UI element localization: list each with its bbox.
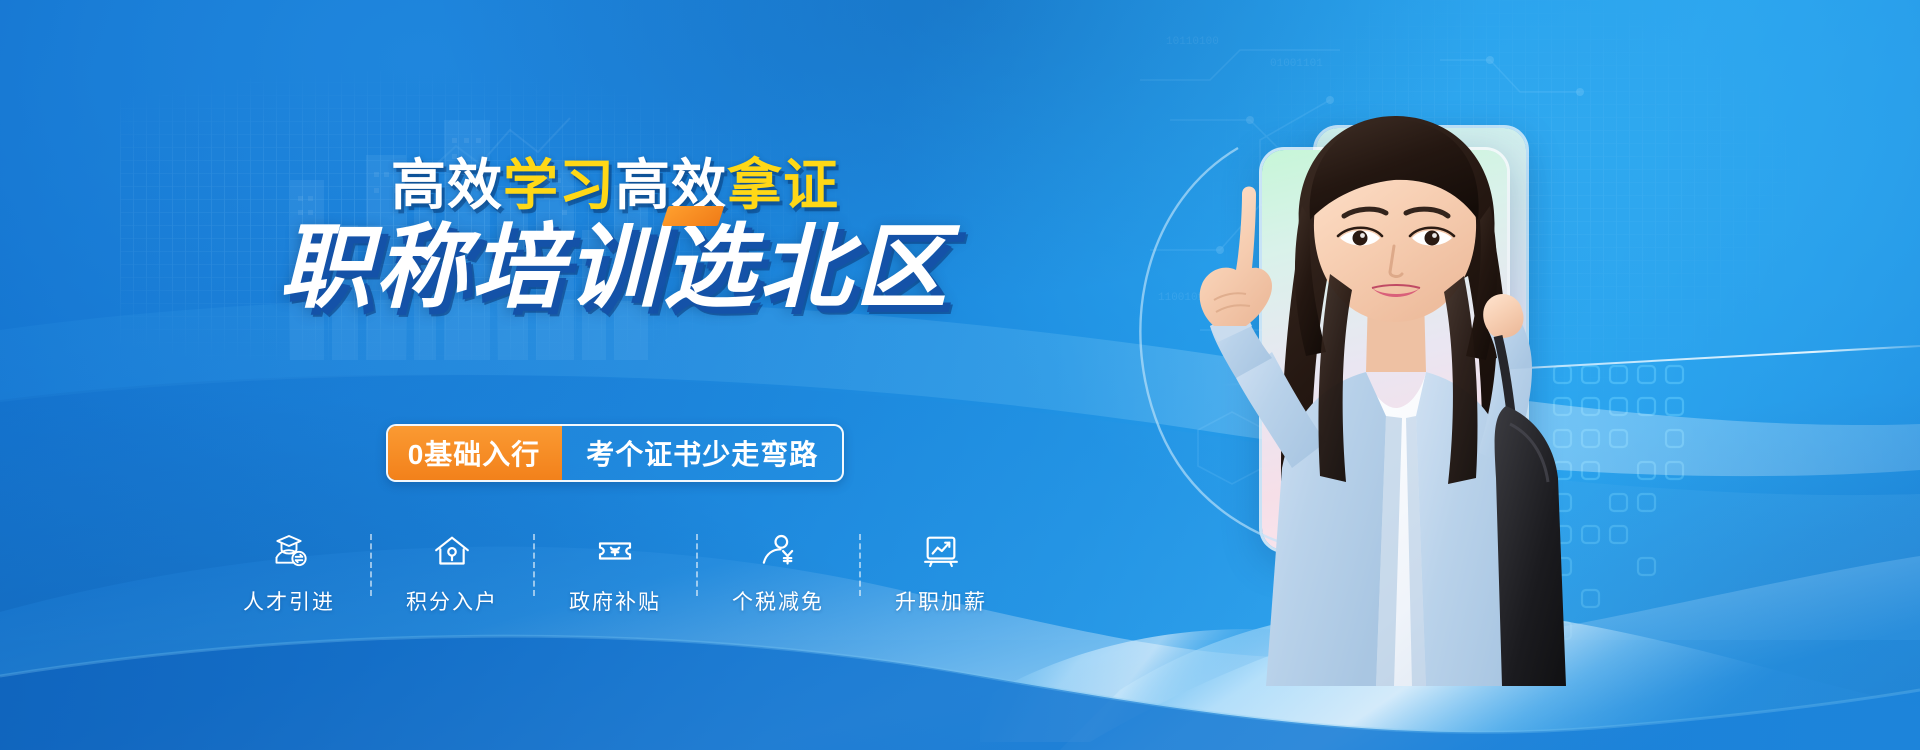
tagline-badge-row: 0基础入行 考个证书少走弯路 [0,424,1230,482]
tagline-badge[interactable]: 0基础入行 考个证书少走弯路 [386,424,845,482]
feature-label: 个税减免 [732,586,824,616]
house-pin-icon [432,530,472,572]
feature-item-points-residency[interactable]: 积分入户 [386,530,519,616]
feature-item-tax-reduction[interactable]: 个税减免 [712,530,845,616]
orange-accent-bar-icon [662,206,724,226]
promo-banner: 10110100 01001101 1100101 0110 101101 [0,0,1920,750]
feature-divider [370,534,372,596]
headline-sub-seg1: 高效 [391,154,503,216]
badge-text: 考个证书少走弯路 [562,426,842,480]
feature-label: 人才引进 [243,586,335,616]
feature-list: 人才引进 积分入户 [0,530,1230,616]
feature-item-promotion-raise[interactable]: 升职加薪 [875,530,1008,616]
feature-divider [859,534,861,596]
feature-divider [696,534,698,596]
headline-secondary: 高效学习高效拿证 [0,158,1230,213]
feature-divider [533,534,535,596]
headline-sub-seg2: 学习 [503,154,615,216]
headline-main-part1: 职称培训 [279,217,663,319]
headline-main-part2: 选北区 [663,217,951,319]
feature-label: 升职加薪 [895,586,987,616]
banner-content: 高效学习高效拿证 职称培训选北区 0基础入行 考个证书少走弯路 [0,0,1230,750]
headline-main-accent-group: 选北区 [663,222,951,316]
badge-highlight: 0基础入行 [386,424,563,482]
graduate-person-icon [269,530,309,572]
feature-item-talent-intro[interactable]: 人才引进 [223,530,356,616]
chart-board-icon [921,530,961,572]
feature-item-gov-subsidy[interactable]: 政府补贴 [549,530,682,616]
feature-label: 积分入户 [406,586,498,616]
feature-label: 政府补贴 [569,586,661,616]
person-yuan-icon [758,530,798,572]
person-illustration [1180,86,1610,686]
headline-primary: 职称培训选北区 [0,222,1230,316]
headline-sub-seg4: 拿证 [727,154,839,216]
ticket-yuan-icon [595,530,635,572]
